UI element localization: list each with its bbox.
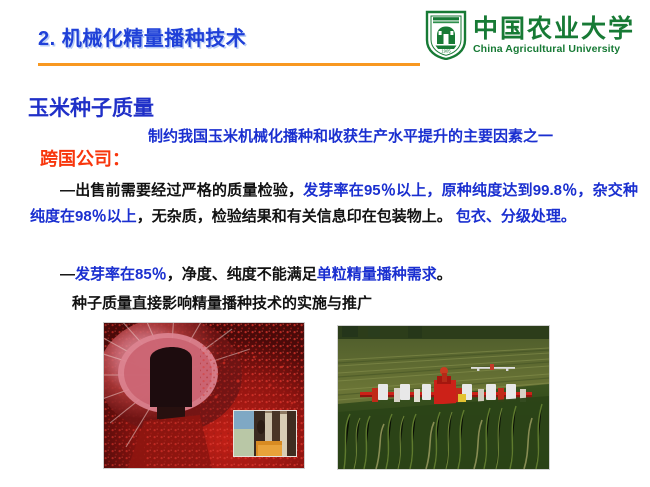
text-run-1: 发芽率在85％ — [75, 266, 167, 283]
svg-text:1905: 1905 — [441, 49, 451, 54]
title-divider-rule — [38, 63, 420, 66]
text-run-3: 包衣、分级处理。 — [452, 208, 576, 225]
text-run-0: — — [60, 266, 75, 283]
content-heading: 玉米种子质量 — [28, 92, 154, 122]
text-run-3: 单粒精量播种需求 — [317, 266, 437, 283]
seed-processing-line-inset — [233, 410, 297, 457]
closing-paragraph-seed-quality-impact: 种子质量直接影响精量播种技术的实施与推广 — [30, 291, 638, 317]
text-run-2: ，净度、纯度不能满足 — [167, 266, 317, 283]
slide-canvas: 2. 机械化精量播种技术 1905 中国农业大学 China Agricultu… — [0, 0, 650, 487]
bullet-paragraph-quality-inspection: —出售前需要经过严格的质量检验，发芽率在95％以上，原种纯度达到99.8％，杂交… — [30, 178, 638, 230]
text-run-0: 种子质量直接影响精量播种技术的实施与推广 — [72, 295, 372, 312]
bullet-paragraph-germination-rate: —发芽率在85％，净度、纯度不能满足单粒精量播种需求。 — [30, 262, 638, 288]
university-logo: 1905 中国农业大学 China Agricultural Universit… — [425, 8, 645, 62]
university-shield-icon: 1905 — [425, 10, 467, 60]
text-run-0: —出售前需要经过严格的质量检验， — [60, 182, 303, 199]
corn-field-detasseling-photo — [337, 325, 550, 470]
logo-name-chinese: 中国农业大学 — [473, 16, 635, 41]
multinational-company-label: 跨国公司： — [40, 145, 130, 171]
content-subheading: 制约我国玉米机械化播种和收获生产水平提升的主要因素之一 — [148, 125, 553, 146]
text-run-2: ，无杂质，检验结果和有关信息印在包装物上。 — [137, 208, 452, 225]
seed-coating-drum-photo — [103, 322, 305, 469]
logo-name-english: China Agricultural University — [473, 44, 635, 55]
text-run-4: 。 — [437, 266, 452, 283]
slide-section-title: 2. 机械化精量播种技术 — [38, 22, 246, 51]
